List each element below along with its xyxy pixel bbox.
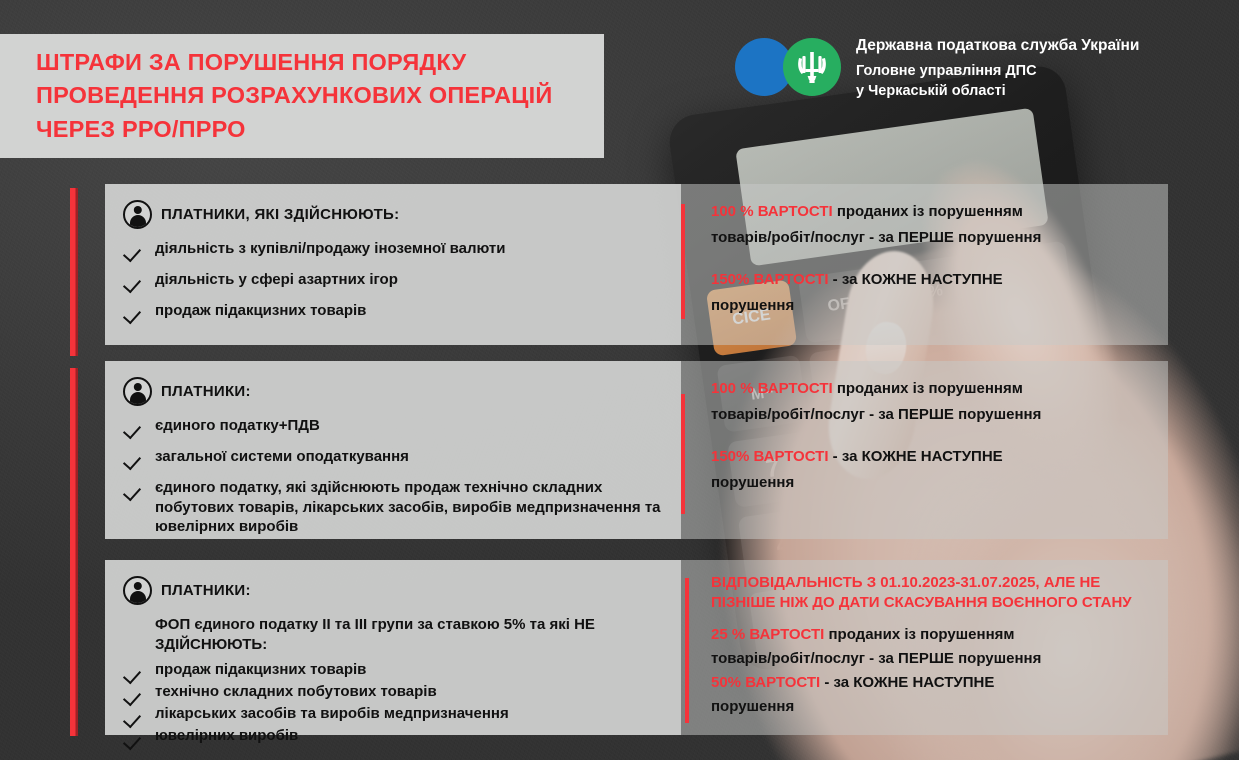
green-circle-trident-icon — [783, 38, 841, 96]
penalty-amount: 50% ВАРТОСТІ — [711, 674, 820, 691]
person-icon — [123, 377, 152, 406]
penalty-row-cont: порушення — [711, 296, 1154, 316]
penalty-text: - за КОЖНЕ НАСТУПНЕ — [820, 674, 994, 691]
list-item-label: діяльність з купівлі/продажу іноземної в… — [155, 239, 505, 259]
category-block-3: ПЛАТНИКИ: ФОП єдиного податку II та III … — [105, 560, 1168, 735]
list-item: лікарських засобів та виробів медпризнач… — [123, 705, 681, 725]
accent-bar-3 — [70, 541, 78, 736]
list-item-label: ювелірних виробів — [155, 727, 298, 746]
accent-bar-1 — [70, 188, 78, 356]
check-icon — [123, 450, 149, 467]
penalty-row-cont: товарів/робіт/послуг - за ПЕРШЕ порушенн… — [711, 228, 1154, 248]
list-item-label: єдиного податку+ПДВ — [155, 416, 320, 436]
penalty-row-cont: порушення — [711, 473, 1154, 493]
block-1-heading: ПЛАТНИКИ, ЯКІ ЗДІЙСНЮЮТЬ: — [123, 200, 681, 229]
list-item: ювелірних виробів — [123, 727, 681, 747]
penalty-text: проданих із порушенням — [833, 203, 1023, 220]
check-icon — [123, 481, 149, 498]
list-item: єдиного податку+ПДВ — [123, 416, 681, 436]
page-title: ШТРАФИ ЗА ПОРУШЕННЯ ПОРЯДКУ ПРОВЕДЕННЯ Р… — [36, 46, 552, 146]
list-item-label: технічно складних побутових товарів — [155, 683, 437, 702]
list-item-label: єдиного податку, які здійснюють продаж т… — [155, 478, 681, 537]
agency-logo: Державна податкова служба України Головн… — [735, 36, 1139, 101]
block-3-heading-label: ПЛАТНИКИ: — [161, 582, 251, 599]
divider-bar-2 — [681, 394, 685, 514]
liability-period-note: ВІДПОВІДАЛЬНІСТЬ З 01.10.2023-31.07.2025… — [711, 573, 1154, 613]
category-block-1: ПЛАТНИКИ, ЯКІ ЗДІЙСНЮЮТЬ: діяльність з к… — [105, 184, 1168, 345]
spacer — [711, 254, 1154, 270]
title-line-1: ШТРАФИ ЗА ПОРУШЕННЯ ПОРЯДКУ — [36, 46, 552, 79]
title-band: ШТРАФИ ЗА ПОРУШЕННЯ ПОРЯДКУ ПРОВЕДЕННЯ Р… — [0, 34, 604, 158]
penalty-amount: 150% ВАРТОСТІ — [711, 448, 829, 465]
check-icon — [123, 730, 149, 747]
block-1-criteria: ПЛАТНИКИ, ЯКІ ЗДІЙСНЮЮТЬ: діяльність з к… — [105, 184, 681, 345]
block-2-heading-label: ПЛАТНИКИ: — [161, 383, 251, 400]
check-icon — [123, 419, 149, 436]
penalty-row-cont: порушення — [711, 697, 1154, 717]
block-3-criteria: ПЛАТНИКИ: ФОП єдиного податку II та III … — [105, 560, 681, 735]
accent-bar-2 — [70, 368, 78, 544]
penalty-amount: 100 % ВАРТОСТІ — [711, 380, 833, 397]
check-icon — [123, 664, 149, 681]
block-2-penalties: 100 % ВАРТОСТІ проданих із порушенням то… — [681, 361, 1168, 539]
penalty-row: 25 % ВАРТОСТІ проданих із порушенням — [711, 625, 1154, 645]
penalty-row: 150% ВАРТОСТІ - за КОЖНЕ НАСТУПНЕ — [711, 447, 1154, 467]
penalty-row-cont: товарів/робіт/послуг - за ПЕРШЕ порушенн… — [711, 405, 1154, 425]
agency-name: Державна податкова служба України Головн… — [856, 36, 1139, 101]
penalty-amount: 150% ВАРТОСТІ — [711, 271, 829, 288]
agency-name-line-2: Головне управління ДПС — [856, 62, 1139, 81]
penalty-row: 150% ВАРТОСТІ - за КОЖНЕ НАСТУПНЕ — [711, 270, 1154, 290]
penalty-amount: 100 % ВАРТОСТІ — [711, 203, 833, 220]
list-item-label: лікарських засобів та виробів медпризнач… — [155, 705, 509, 724]
person-icon — [123, 200, 152, 229]
block-3-heading: ПЛАТНИКИ: — [123, 576, 681, 605]
check-icon — [123, 686, 149, 703]
penalty-amount: 25 % ВАРТОСТІ — [711, 626, 824, 643]
penalty-row: 100 % ВАРТОСТІ проданих із порушенням — [711, 379, 1154, 399]
spacer — [711, 431, 1154, 447]
agency-name-line-3: у Черкаській області — [856, 82, 1139, 101]
check-icon — [123, 708, 149, 725]
list-item-label: продаж підакцизних товарів — [155, 301, 366, 321]
penalty-text: - за КОЖНЕ НАСТУПНЕ — [829, 271, 1003, 288]
list-item: єдиного податку, які здійснюють продаж т… — [123, 478, 681, 537]
list-item-label: загальної системи оподаткування — [155, 447, 409, 467]
block-1-heading-label: ПЛАТНИКИ, ЯКІ ЗДІЙСНЮЮТЬ: — [161, 206, 399, 223]
logo-mark — [735, 38, 848, 96]
penalty-row-cont: товарів/робіт/послуг - за ПЕРШЕ порушенн… — [711, 649, 1154, 669]
penalty-row: 50% ВАРТОСТІ - за КОЖНЕ НАСТУПНЕ — [711, 673, 1154, 693]
title-line-3: ЧЕРЕЗ РРО/ПРРО — [36, 113, 552, 146]
check-icon — [123, 273, 149, 290]
list-item: продаж підакцизних товарів — [123, 661, 681, 681]
agency-name-line-1: Державна податкова служба України — [856, 36, 1139, 55]
title-line-2: ПРОВЕДЕННЯ РОЗРАХУНКОВИХ ОПЕРАЦІЙ — [36, 79, 552, 112]
list-item-label: продаж підакцизних товарів — [155, 661, 366, 680]
divider-bar-1 — [681, 204, 685, 319]
block-1-penalties: 100 % ВАРТОСТІ проданих із порушенням то… — [681, 184, 1168, 345]
check-icon — [123, 242, 149, 259]
penalty-text: - за КОЖНЕ НАСТУПНЕ — [829, 448, 1003, 465]
list-item: продаж підакцизних товарів — [123, 301, 681, 321]
person-icon — [123, 576, 152, 605]
list-item-label: діяльність у сфері азартних ігор — [155, 270, 398, 290]
block-2-criteria: ПЛАТНИКИ: єдиного податку+ПДВ загальної … — [105, 361, 681, 539]
penalty-text: проданих із порушенням — [833, 380, 1023, 397]
check-icon — [123, 304, 149, 321]
list-item: діяльність у сфері азартних ігор — [123, 270, 681, 290]
penalty-text: проданих із порушенням — [824, 626, 1014, 643]
block-3-intro: ФОП єдиного податку II та III групи за с… — [155, 615, 681, 654]
list-item: діяльність з купівлі/продажу іноземної в… — [123, 239, 681, 259]
infographic-poster: CICE OFF % ÷ M− M+ × − 7 8 9 − 4 5 6 + 1… — [0, 0, 1239, 760]
list-item: загальної системи оподаткування — [123, 447, 681, 467]
list-item: технічно складних побутових товарів — [123, 683, 681, 703]
penalty-row: 100 % ВАРТОСТІ проданих із порушенням — [711, 202, 1154, 222]
category-block-2: ПЛАТНИКИ: єдиного податку+ПДВ загальної … — [105, 361, 1168, 539]
divider-bar-3 — [685, 578, 689, 723]
block-2-heading: ПЛАТНИКИ: — [123, 377, 681, 406]
block-3-penalties: ВІДПОВІДАЛЬНІСТЬ З 01.10.2023-31.07.2025… — [681, 560, 1168, 735]
